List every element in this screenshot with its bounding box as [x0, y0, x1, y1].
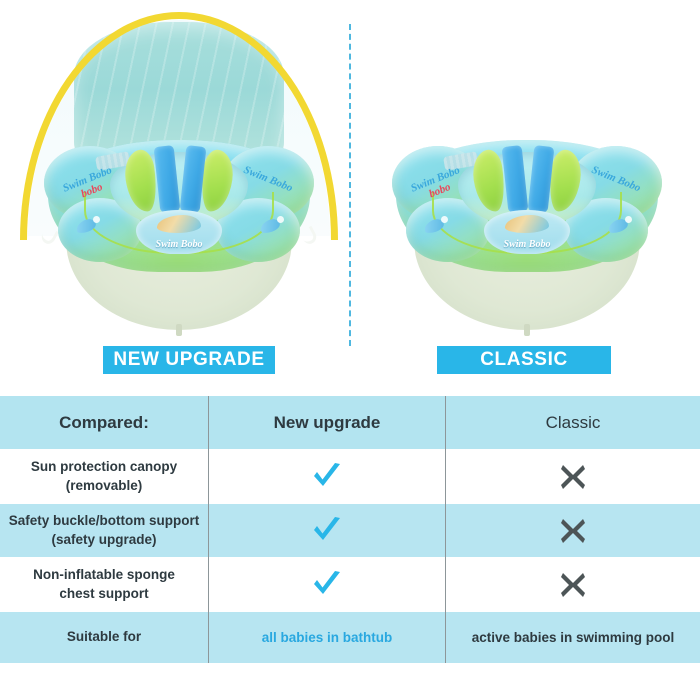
dolphin-decal-left-icon [422, 216, 448, 238]
product-showcase: Swim Bobo Swim Bobo bobo Swim Bobo [0, 0, 700, 392]
dolphin-decal-right-icon [606, 216, 632, 238]
cell-classic [446, 504, 700, 557]
dolphin-decal-right-icon [258, 216, 284, 238]
dolphin-icon [157, 215, 201, 233]
table-header-new-upgrade: New upgrade [208, 396, 446, 449]
cell-new-upgrade [208, 557, 446, 612]
comparison-table: Compared: New upgrade Classic Sun protec… [0, 396, 700, 663]
table-row: Non-inflatable sponge chest support [0, 557, 700, 612]
brand-logo-badge: Swim Bobo [484, 210, 570, 254]
brand-logo-text: Swim Bobo [136, 239, 222, 250]
table-header-row: Compared: New upgrade Classic [0, 396, 700, 449]
table-row: Suitable for all babies in bathtub activ… [0, 612, 700, 663]
dolphin-icon [505, 215, 549, 233]
table-header-classic: Classic [446, 396, 700, 449]
table-row: Safety buckle/bottom support (safety upg… [0, 504, 700, 557]
feature-title: Non-inflatable sponge [33, 567, 175, 582]
feature-title: Sun protection canopy [31, 459, 177, 474]
product-panel-classic: Swim Bobo Swim Bobo bobo Swim Bobo [350, 0, 700, 392]
swim-float-new-upgrade: Swim Bobo Swim Bobo bobo Swim Bobo [48, 140, 310, 335]
badge-classic: CLASSIC [437, 346, 611, 374]
air-plug-icon [176, 324, 182, 336]
bubble-shape [441, 216, 448, 223]
cross-icon [559, 517, 587, 545]
cell-new-upgrade [208, 449, 446, 504]
feature-label: Sun protection canopy (removable) [0, 449, 208, 504]
feature-label: Safety buckle/bottom support (safety upg… [0, 504, 208, 557]
dolphin-decal-left-icon [74, 216, 100, 238]
check-icon [311, 570, 343, 600]
cell-new-upgrade [208, 504, 446, 557]
product-panel-new-upgrade: Swim Bobo Swim Bobo bobo Swim Bobo [0, 0, 350, 392]
comparison-infographic: Swim Bobo Swim Bobo bobo Swim Bobo [0, 0, 700, 700]
brand-logo-text: Swim Bobo [484, 239, 570, 250]
table-row: Sun protection canopy (removable) [0, 449, 700, 504]
feature-title: Suitable for [67, 628, 141, 646]
bubble-shape [277, 216, 284, 223]
cross-icon [559, 571, 587, 599]
table-header-compared: Compared: [0, 396, 208, 449]
brand-logo-badge: Swim Bobo [136, 210, 222, 254]
feature-label: Non-inflatable sponge chest support [0, 557, 208, 612]
cell-classic: active babies in swimming pool [446, 612, 700, 663]
bubble-shape [93, 216, 100, 223]
feature-label: Suitable for [0, 612, 208, 663]
cross-icon [559, 463, 587, 491]
feature-subtitle: (removable) [31, 477, 177, 495]
cell-classic [446, 449, 700, 504]
badge-new-upgrade: NEW UPGRADE [103, 346, 275, 374]
feature-subtitle: (safety upgrade) [9, 531, 200, 549]
feature-subtitle: chest support [33, 585, 175, 603]
feature-title: Safety buckle/bottom support [9, 513, 200, 528]
cell-classic [446, 557, 700, 612]
air-plug-icon [524, 324, 530, 336]
bubble-shape [625, 216, 632, 223]
cell-new-upgrade: all babies in bathtub [208, 612, 446, 663]
check-icon [311, 516, 343, 546]
swim-float-classic: Swim Bobo Swim Bobo bobo Swim Bobo [396, 140, 658, 335]
check-icon [311, 462, 343, 492]
